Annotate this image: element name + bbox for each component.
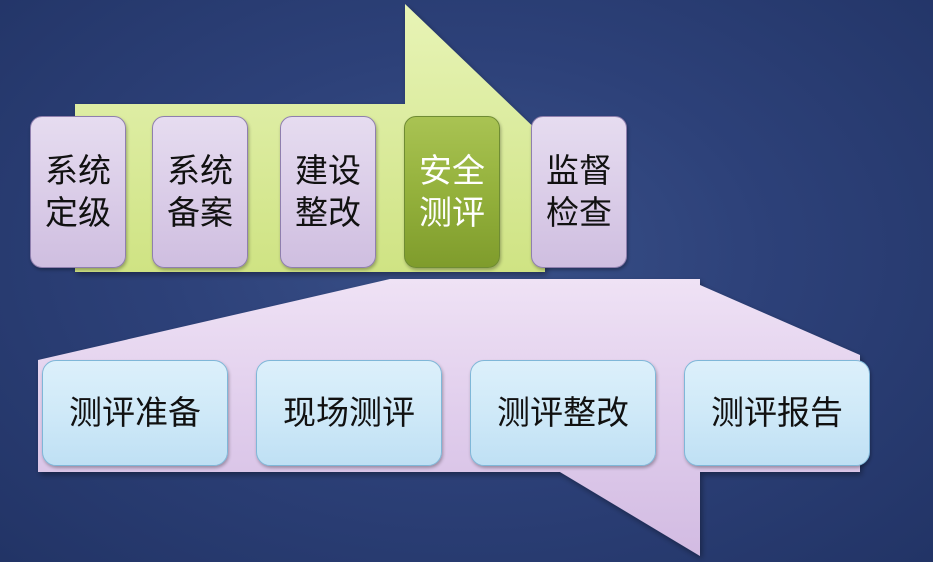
sub-step-3-label: 测评整改 [497, 392, 629, 434]
sub-step-4-label: 测评报告 [711, 392, 843, 434]
process-step-3[interactable]: 建设 整改 [280, 116, 376, 268]
process-step-1-label: 系统 定级 [31, 150, 125, 234]
process-step-2-label: 系统 备案 [153, 150, 247, 234]
sub-step-1-label: 测评准备 [69, 392, 201, 434]
sub-step-2-label: 现场测评 [283, 392, 415, 434]
process-step-2-line1: 系统 [167, 152, 233, 189]
process-step-3-line1: 建设 [295, 152, 361, 189]
process-step-4-line1: 安全 [419, 152, 485, 189]
process-step-2[interactable]: 系统 备案 [152, 116, 248, 268]
process-step-1-line1: 系统 [45, 152, 111, 189]
sub-step-3[interactable]: 测评整改 [470, 360, 656, 466]
process-step-5[interactable]: 监督 检查 [531, 116, 627, 268]
process-step-5-line2: 检查 [546, 194, 612, 231]
process-step-2-line2: 备案 [167, 194, 233, 231]
diagram-canvas: 系统 定级 系统 备案 建设 整改 安全 测评 监督 检查 测评准备 现场测评 [0, 0, 933, 562]
process-step-5-label: 监督 检查 [532, 150, 626, 234]
process-step-3-line2: 整改 [295, 194, 361, 231]
process-step-1[interactable]: 系统 定级 [30, 116, 126, 268]
process-step-4-active[interactable]: 安全 测评 [404, 116, 500, 268]
process-step-1-line2: 定级 [45, 194, 111, 231]
sub-step-4[interactable]: 测评报告 [684, 360, 870, 466]
process-step-4-label: 安全 测评 [405, 150, 499, 234]
process-step-5-line1: 监督 [546, 152, 612, 189]
sub-step-2[interactable]: 现场测评 [256, 360, 442, 466]
arrow-layer [0, 0, 933, 562]
sub-step-1[interactable]: 测评准备 [42, 360, 228, 466]
process-step-4-line2: 测评 [419, 194, 485, 231]
process-step-3-label: 建设 整改 [281, 150, 375, 234]
